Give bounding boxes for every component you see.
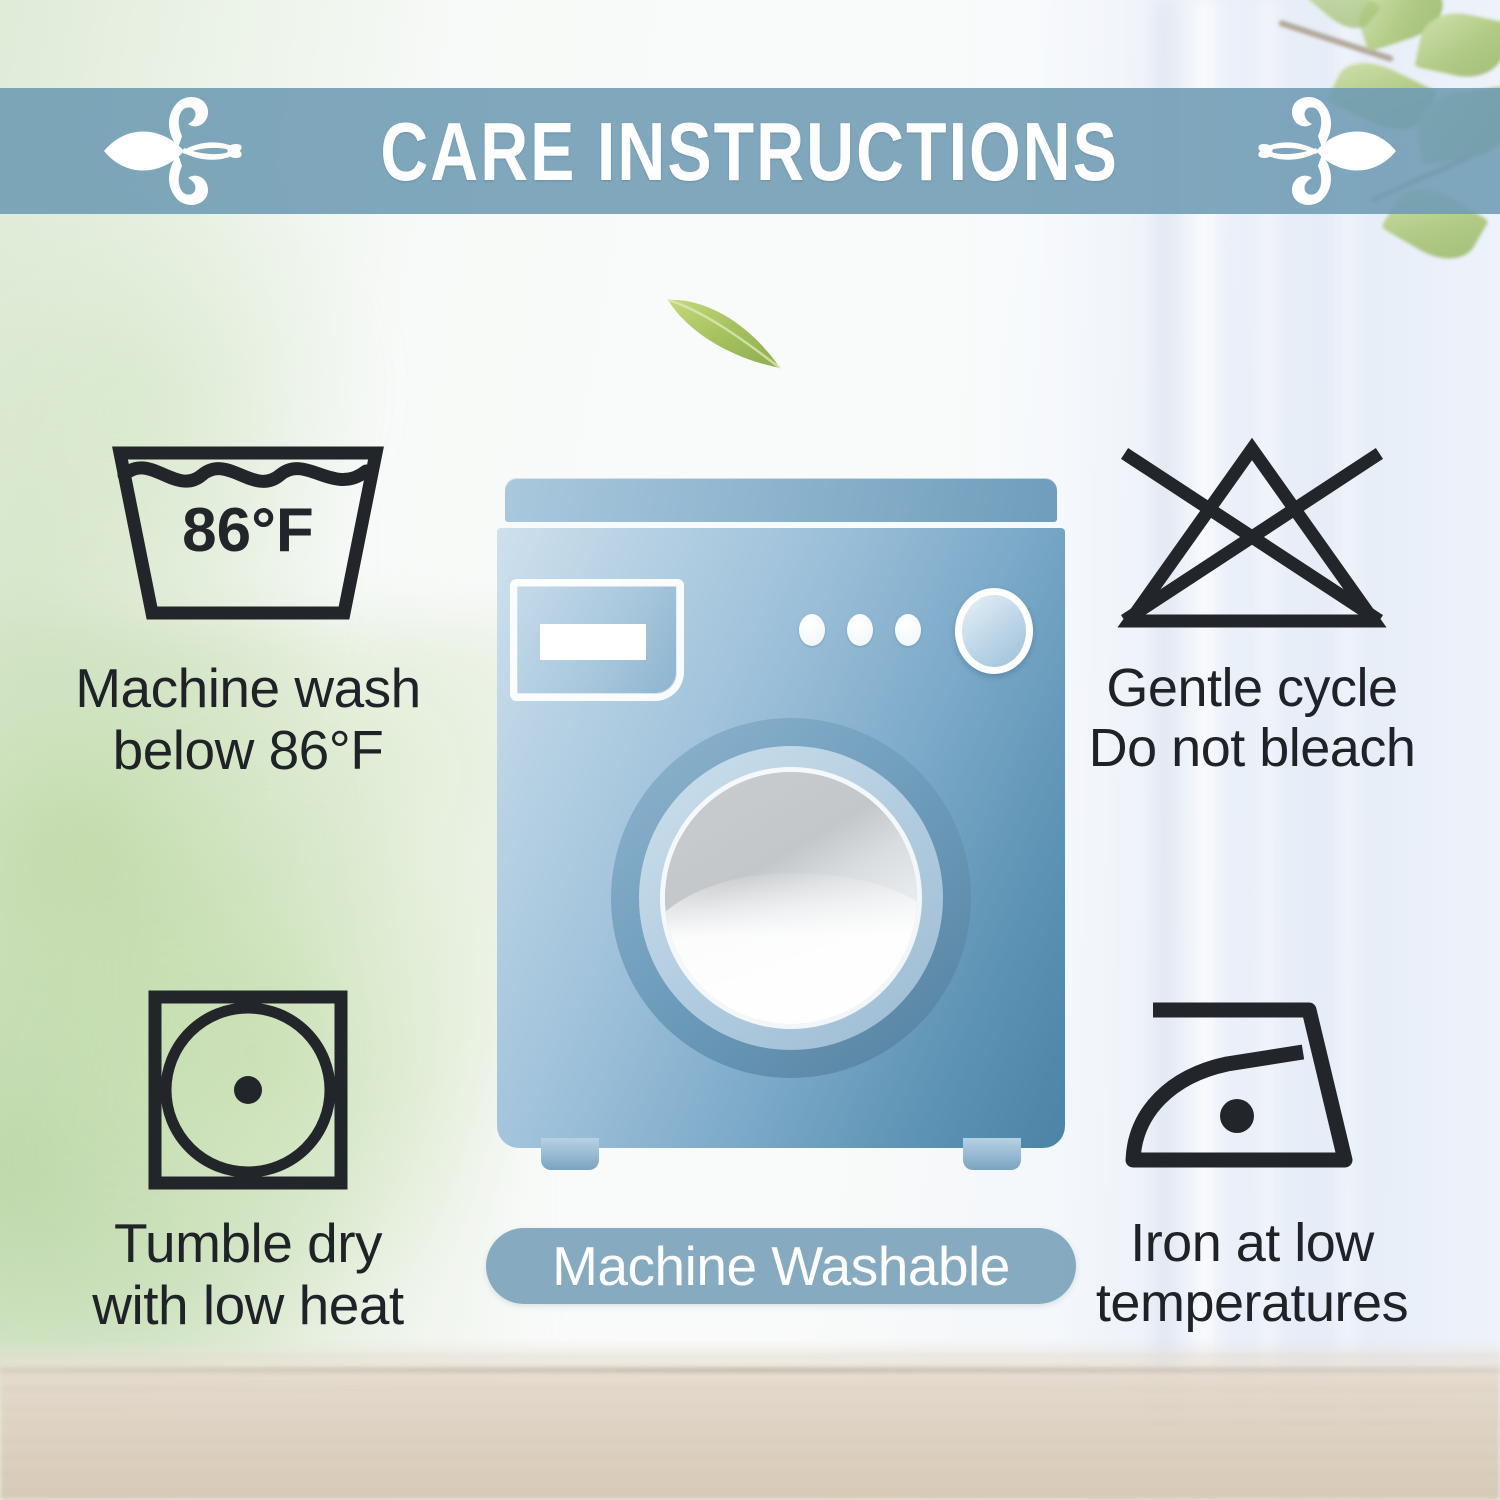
washer-foot — [963, 1138, 1021, 1170]
table-wood-grain — [0, 1340, 1500, 1500]
floating-green-leaf — [662, 288, 790, 374]
washer-door-ring — [639, 746, 943, 1050]
indicator-light-group — [799, 614, 921, 646]
indicator-light — [847, 614, 873, 646]
wash-temperature-text: 86°F — [182, 496, 314, 565]
machine-washable-badge: Machine Washable — [486, 1228, 1076, 1304]
fleur-de-lis-ornament — [1246, 96, 1396, 206]
detergent-drawer[interactable] — [517, 586, 677, 694]
do-not-bleach-triangle-symbol — [1102, 435, 1402, 635]
detergent-drawer-handle — [540, 624, 646, 660]
symbol-container: 86°F — [98, 430, 398, 640]
care-instructions-infographic: CARE INSTRUCTIONS — [0, 0, 1500, 1500]
care-item-label: Gentle cycle Do not bleach — [1089, 658, 1416, 779]
symbol-container — [143, 985, 353, 1195]
washer-door[interactable] — [611, 718, 971, 1078]
table-front-edge — [0, 1368, 1500, 1372]
badge-label: Machine Washable — [552, 1239, 1010, 1294]
header-banner: CARE INSTRUCTIONS — [0, 88, 1500, 214]
care-item-machine-wash: 86°F Machine wash below 86°F — [38, 430, 458, 781]
page-title: CARE INSTRUCTIONS — [381, 110, 1120, 193]
indicator-light — [895, 614, 921, 646]
care-item-label: Iron at low temperatures — [1096, 1213, 1408, 1334]
care-item-label: Machine wash below 86°F — [75, 658, 421, 781]
iron-low-temperature-symbol — [1117, 990, 1387, 1190]
tumble-dry-low-symbol — [143, 985, 353, 1195]
care-item-tumble-dry: Tumble dry with low heat — [38, 985, 458, 1336]
control-knob[interactable] — [955, 588, 1033, 674]
washer-foot — [541, 1138, 599, 1170]
fleur-de-lis-ornament — [104, 96, 254, 206]
symbol-container — [1117, 985, 1387, 1195]
washer-lid — [505, 478, 1057, 522]
glass-highlight — [665, 873, 917, 1024]
indicator-light — [799, 614, 825, 646]
symbol-container — [1102, 430, 1402, 640]
care-item-do-not-bleach: Gentle cycle Do not bleach — [1042, 430, 1462, 779]
washer-door-glass — [665, 772, 917, 1024]
washer-body — [497, 528, 1065, 1148]
front-load-washing-machine — [497, 478, 1065, 1178]
wash-tub-symbol: 86°F — [98, 435, 398, 635]
care-item-iron: Iron at low temperatures — [1042, 985, 1462, 1334]
care-item-label: Tumble dry with low heat — [92, 1213, 403, 1336]
